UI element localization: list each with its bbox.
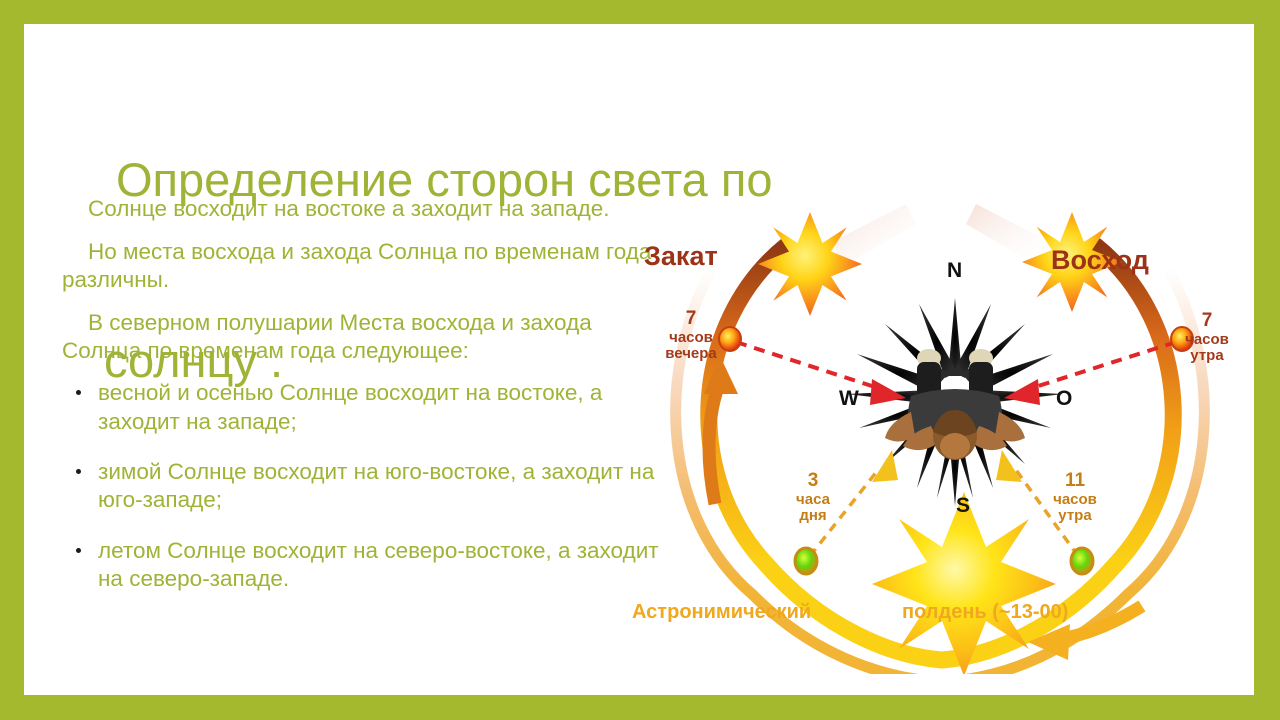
paragraph-1: Солнце восходит на востоке а заходит на … (62, 195, 664, 223)
list-item: летом Солнце восходит на северо-востоке,… (62, 537, 664, 594)
bullet-dot-icon (76, 390, 81, 395)
sunset-sun-icon (758, 212, 862, 316)
time-afternoon-line2: часа (796, 491, 830, 508)
time-late-morning-line2: часов (1053, 491, 1097, 508)
sunrise-label: Восход (1051, 246, 1149, 275)
bullet-list: весной и осенью Солнце восходит на восто… (62, 379, 664, 593)
bullet-dot-icon (76, 469, 81, 474)
time-label-evening: 7 часов вечера (650, 309, 732, 362)
marker-dot-3pm (795, 548, 817, 574)
noon-label-part1: Астронимический (632, 602, 811, 624)
sunset-label: Закат (644, 242, 718, 271)
sun-path-diagram: Закат Восход 7 часов вечера 7 часов утра… (620, 174, 1254, 674)
body-text-block: Солнце восходит на востоке а заходит на … (62, 195, 664, 616)
list-item: весной и осенью Солнце восходит на восто… (62, 379, 664, 436)
time-afternoon-number: 3 (780, 471, 846, 492)
time-evening-line2: часов (669, 329, 713, 346)
time-evening-number: 7 (650, 309, 732, 330)
time-morning-line2: часов (1185, 331, 1229, 348)
marker-dot-11am (1071, 548, 1093, 574)
paragraph-2: Но места восхода и захода Солнца по врем… (62, 238, 664, 294)
list-item-label: весной и осенью Солнце восходит на восто… (98, 380, 602, 433)
dashed-line-east (1004, 342, 1176, 405)
time-label-afternoon: 3 часа дня (780, 471, 846, 524)
time-late-morning-line3: утра (1058, 507, 1091, 524)
time-morning-number: 7 (1168, 311, 1246, 332)
time-evening-line3: вечера (665, 345, 717, 362)
compass-label-north: N (947, 259, 962, 283)
compass-label-west: W (839, 387, 859, 411)
paragraph-3: В северном полушарии Места восхода и зах… (62, 309, 664, 365)
time-label-late-morning: 11 часов утра (1035, 471, 1115, 524)
slide-canvas: Определение сторон света по солнцу . Сол… (24, 24, 1254, 695)
compass-label-east: O (1056, 387, 1072, 411)
sun-path-arc-left (709, 246, 786, 564)
noon-label-part2: полдень (~13-00) (902, 602, 1068, 624)
time-afternoon-line3: дня (799, 507, 826, 524)
sunset-ray (832, 204, 916, 266)
slide-root: Определение сторон света по солнцу . Сол… (0, 0, 1280, 720)
time-morning-line3: утра (1190, 347, 1223, 364)
list-item: зимой Солнце восходит на юго-востоке, а … (62, 458, 664, 515)
compass-label-south: S (956, 494, 970, 518)
time-label-morning: 7 часов утра (1168, 311, 1246, 364)
time-late-morning-number: 11 (1035, 471, 1115, 492)
list-item-label: летом Солнце восходит на северо-востоке,… (98, 538, 659, 591)
dashed-line-west (736, 342, 906, 405)
bullet-dot-icon (76, 548, 81, 553)
list-item-label: зимой Солнце восходит на юго-востоке, а … (98, 459, 654, 512)
